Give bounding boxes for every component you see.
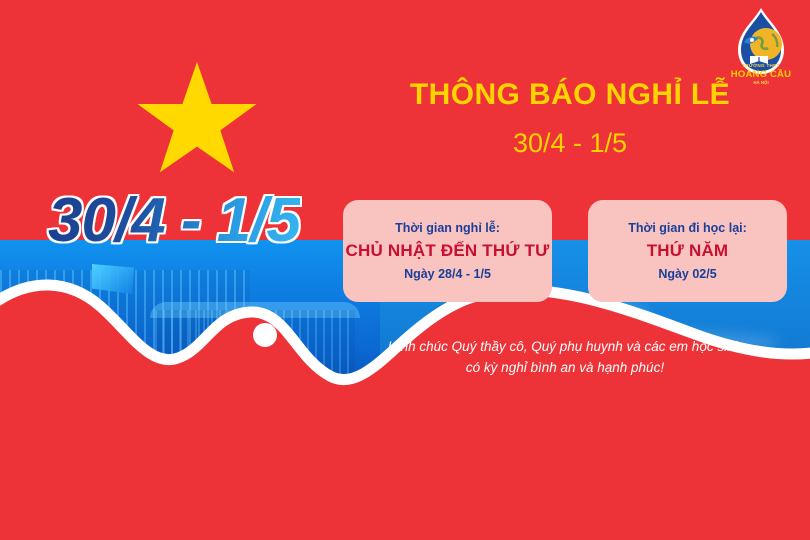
- greeting-message: Kính chúc Quý thầy cô, Quý phụ huynh và …: [345, 336, 785, 378]
- card-main-value: THỨ NĂM: [647, 241, 729, 261]
- big-date-text: 30/4 - 1/5: [48, 185, 300, 256]
- page-title: THÔNG BÁO NGHỈ LỄ: [360, 78, 780, 112]
- card-title: Thời gian đi học lại:: [628, 221, 747, 235]
- school-logo: TRƯỜNG THPT HOÀNG CẦU HÀ NỘI: [728, 6, 794, 90]
- card-title: Thời gian nghỉ lễ:: [395, 221, 500, 235]
- card-sub-value: Ngày 28/4 - 1/5: [404, 267, 491, 281]
- greeting-line-1: Kính chúc Quý thầy cô, Quý phụ huynh và …: [345, 336, 785, 357]
- poster-canvas: 1975 30/4 - 1/5 THÔN: [0, 0, 810, 540]
- greeting-line-2: có kỳ nghỉ bình an và hạnh phúc!: [345, 357, 785, 378]
- card-sub-value: Ngày 02/5: [658, 267, 716, 281]
- wave-dot-accent: [253, 323, 277, 347]
- logo-line-1: TRƯỜNG THPT: [728, 64, 794, 69]
- page-subtitle: 30/4 - 1/5: [360, 128, 780, 159]
- holiday-period-card: Thời gian nghỉ lễ: CHỦ NHẬT ĐẾN THỨ TƯ N…: [343, 200, 552, 302]
- vietnam-star-icon: [135, 62, 259, 182]
- return-date-card: Thời gian đi học lại: THỨ NĂM Ngày 02/5: [588, 200, 787, 302]
- logo-line-2: HOÀNG CẦU: [728, 70, 794, 80]
- card-main-value: CHỦ NHẬT ĐẾN THỨ TƯ: [346, 241, 550, 261]
- logo-line-3: HÀ NỘI: [728, 81, 794, 85]
